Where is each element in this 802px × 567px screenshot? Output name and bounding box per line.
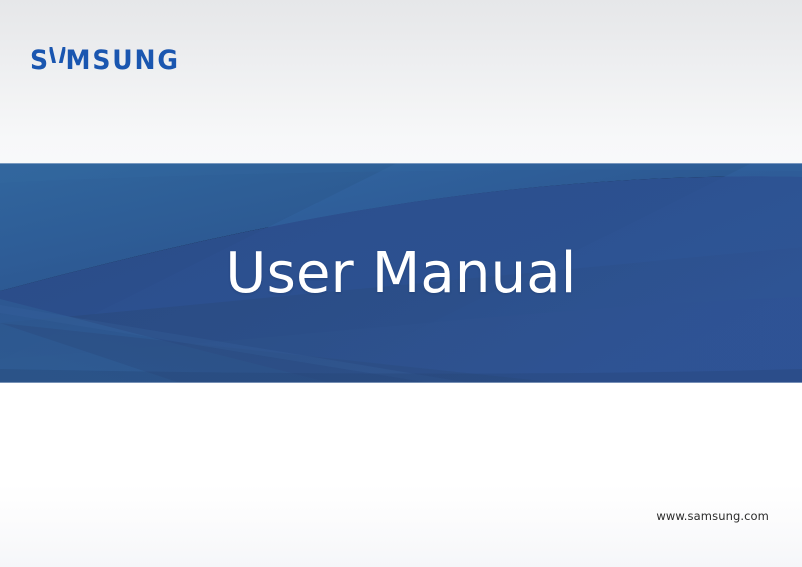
hero-banner: User Manual	[0, 163, 802, 383]
page-body-area	[0, 383, 802, 567]
samsung-logo-letter-a	[50, 42, 66, 69]
footer-website-url: www.samsung.com	[656, 509, 769, 523]
page-header: SMSUNG	[0, 0, 802, 163]
samsung-logo: SMSUNG	[30, 42, 180, 72]
samsung-logo-prefix: S	[30, 45, 50, 76]
page-title: User Manual	[0, 163, 802, 383]
samsung-logo-suffix: MSUNG	[66, 45, 180, 76]
user-manual-cover-page: SMSUNG	[0, 0, 802, 567]
